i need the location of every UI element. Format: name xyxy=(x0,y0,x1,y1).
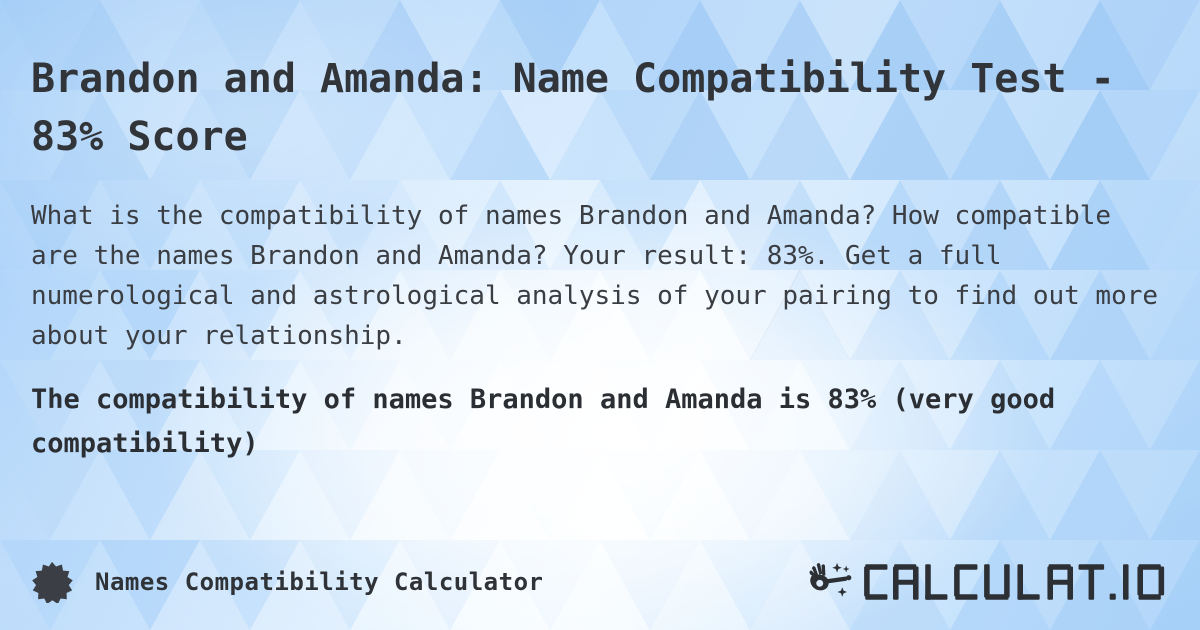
magic-wand-hand-icon xyxy=(805,560,857,604)
compatibility-card: Brandon and Amanda: Name Compatibility T… xyxy=(0,0,1200,630)
brand-block: Names Compatibility Calculator xyxy=(31,561,543,603)
site-logo[interactable] xyxy=(805,560,1174,604)
footer: Names Compatibility Calculator xyxy=(31,556,1174,608)
page-title: Brandon and Amanda: Name Compatibility T… xyxy=(31,50,1170,166)
logo-wordmark xyxy=(863,562,1174,602)
content-area: Brandon and Amanda: Name Compatibility T… xyxy=(0,0,1200,630)
compatibility-result-text: The compatibility of names Brandon and A… xyxy=(31,378,1170,466)
starburst-badge-icon xyxy=(31,561,73,603)
page-description: What is the compatibility of names Brand… xyxy=(31,196,1170,356)
brand-label: Names Compatibility Calculator xyxy=(95,568,543,596)
